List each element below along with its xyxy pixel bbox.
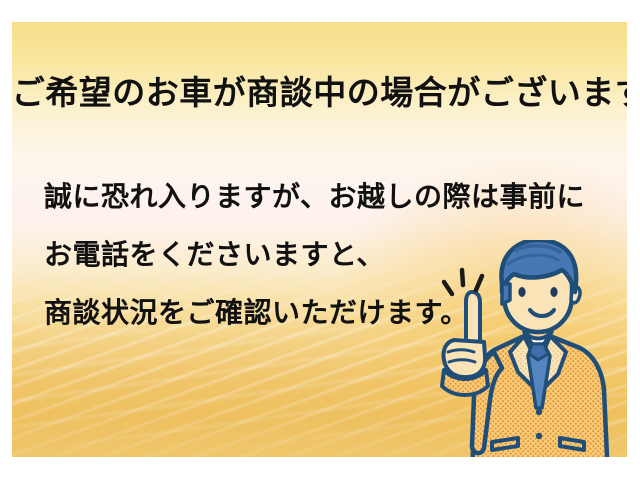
notice-panel: ご希望のお車が商談中の場合がございます 誠に恐れ入りますが、お越しの際は事前に …	[12, 22, 627, 457]
body-line-3: 商談状況をご確認いただけます。	[44, 284, 604, 342]
necktie	[528, 344, 550, 408]
suit-jacket-shape	[472, 336, 608, 457]
jacket-details	[492, 409, 584, 450]
body-line-2: お電話をくださいますと、	[44, 226, 604, 284]
raised-arm	[472, 352, 502, 453]
body-line-1: 誠に恐れ入りますが、お越しの際は事前に	[44, 168, 604, 226]
headline-text: ご希望のお車が商談中の場合がございます	[40, 66, 620, 114]
body-copy: 誠に恐れ入りますが、お越しの際は事前に お電話をくださいますと、 商談状況をご確…	[44, 168, 604, 342]
banner-image: ご希望のお車が商談中の場合がございます 誠に恐れ入りますが、お越しの際は事前に …	[0, 0, 640, 480]
